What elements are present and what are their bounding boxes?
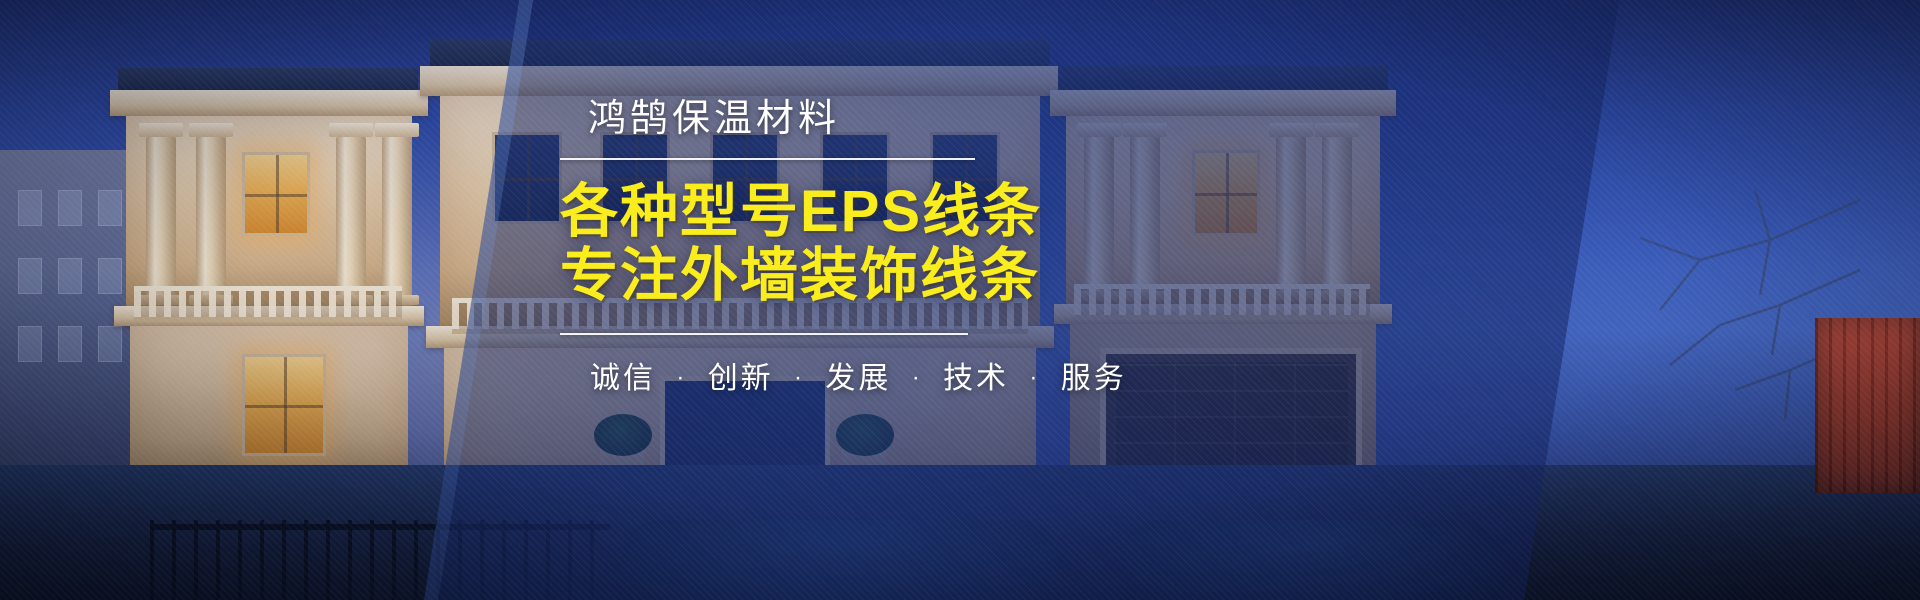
hedge: [620, 520, 1060, 600]
hedge: [1120, 520, 1500, 600]
tagline-item: 创新: [708, 362, 774, 395]
banner-copy: 鸿鹄保温材料 各种型号EPS线条 专注外墙装饰线条 诚信 · 创新 · 发展 ·…: [560, 96, 1460, 397]
tree-branches: [1520, 120, 1860, 480]
headline-line-1: 各种型号EPS线条: [560, 180, 1460, 245]
tagline-item: 技术: [943, 362, 1009, 395]
company-name: 鸿鹄保温材料: [588, 96, 1460, 144]
tagline-separator: ·: [785, 364, 814, 391]
tagline: 诚信 · 创新 · 发展 · 技术 · 服务: [590, 353, 1460, 397]
headline-line-2: 专注外墙装饰线条: [560, 244, 1460, 309]
tagline-item: 诚信: [590, 362, 656, 395]
divider-top: [560, 158, 975, 160]
fence: [150, 520, 610, 600]
tagline-item: 服务: [1061, 362, 1127, 395]
tagline-separator: ·: [1020, 364, 1049, 391]
hero-banner: 鸿鹄保温材料 各种型号EPS线条 专注外墙装饰线条 诚信 · 创新 · 发展 ·…: [0, 0, 1920, 600]
red-container: [1815, 318, 1920, 493]
tagline-separator: ·: [903, 364, 932, 391]
tagline-separator: ·: [667, 364, 696, 391]
divider-bottom: [560, 333, 968, 335]
tagline-item: 发展: [825, 362, 891, 395]
